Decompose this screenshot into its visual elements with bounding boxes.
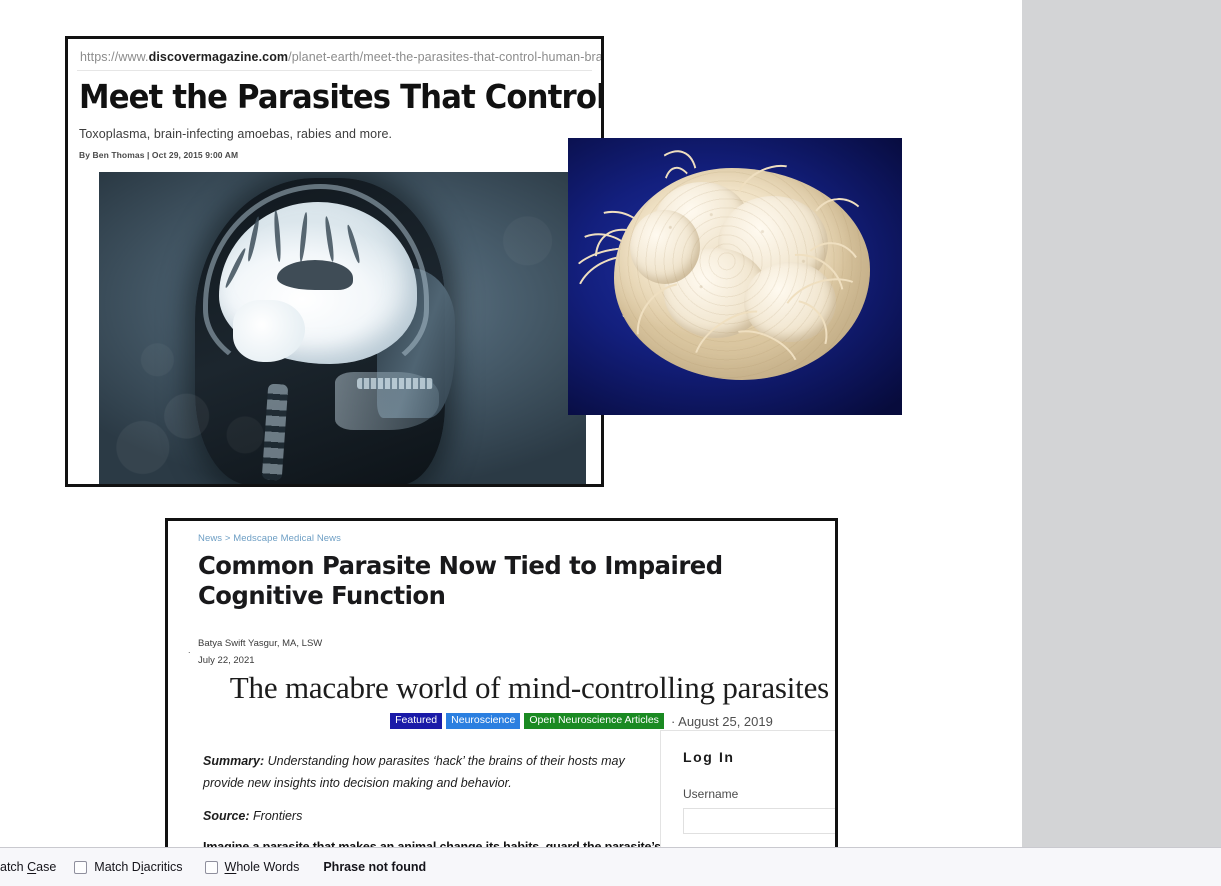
- discover-article-inner: https://www.discovermagazine.com/planet-…: [68, 39, 601, 485]
- teeth: [357, 378, 433, 389]
- skull-outline: [203, 184, 429, 380]
- article-author: Batya Swift Yasgur, MA, LSW: [198, 638, 835, 649]
- url-bar[interactable]: https://www.discovermagazine.com/planet-…: [77, 45, 592, 71]
- source-paragraph: Source: Frontiers: [203, 809, 668, 823]
- match-diacritics-option[interactable]: Match Diacritics: [74, 860, 182, 874]
- article-date: July 22, 2021: [198, 655, 835, 666]
- username-input[interactable]: [683, 808, 838, 834]
- spine: [262, 383, 289, 480]
- tag-publish-date: · August 25, 2019: [671, 714, 773, 729]
- cerebellum: [233, 300, 305, 362]
- brain-fold: [273, 210, 282, 262]
- jaw-bone: [335, 372, 439, 430]
- match-case-option[interactable]: atch Case: [0, 860, 56, 874]
- lede-paragraph: Imagine a parasite that makes an animal …: [203, 840, 668, 847]
- page-title: Common Parasite Now Tied to Impaired Cog…: [198, 551, 816, 610]
- brain-fold: [246, 216, 260, 262]
- browser-page: https://www.discovermagazine.com/planet-…: [0, 0, 1221, 886]
- stray-mark: .: [188, 645, 191, 655]
- tag-featured[interactable]: Featured: [390, 713, 442, 729]
- face-profile: [377, 268, 455, 418]
- medscape-article-card[interactable]: News > Medscape Medical News Common Para…: [165, 518, 838, 847]
- brain-fold: [298, 212, 308, 262]
- brain-fold: [346, 224, 362, 264]
- source-label: Source:: [203, 809, 250, 823]
- match-case-label: atch Case: [0, 860, 56, 874]
- match-diacritics-label: Match Diacritics: [94, 860, 182, 874]
- brain-mass: [219, 202, 417, 364]
- source-text: Frontiers: [250, 809, 303, 823]
- worm-cluster-front: [568, 138, 902, 415]
- right-side-panel: [1022, 0, 1221, 847]
- article-body: Summary: Understanding how parasites ‘ha…: [198, 751, 668, 847]
- tag-neuroscience[interactable]: Neuroscience: [446, 713, 520, 729]
- login-card: Log In Username: [660, 730, 838, 847]
- brain-fold: [224, 247, 248, 289]
- whole-words-checkbox[interactable]: [205, 861, 218, 874]
- breadcrumb[interactable]: News > Medscape Medical News: [198, 533, 835, 544]
- tag-row: Featured Neuroscience Open Neuroscience …: [198, 713, 835, 729]
- summary-paragraph: Summary: Understanding how parasites ‘ha…: [203, 751, 668, 795]
- whole-words-option[interactable]: Whole Words: [205, 860, 300, 874]
- worm-infested-brain-photo: [568, 138, 902, 415]
- article-dek: Toxoplasma, brain-infecting amoebas, rab…: [79, 127, 592, 141]
- username-label: Username: [683, 787, 838, 801]
- tag-open-neuroscience-articles[interactable]: Open Neuroscience Articles: [524, 713, 664, 729]
- summary-label: Summary:: [203, 754, 264, 768]
- head-silhouette: [195, 178, 445, 485]
- find-toolbar[interactable]: atch Case Match Diacritics Whole Words P…: [0, 847, 1221, 886]
- discover-article-card[interactable]: https://www.discovermagazine.com/planet-…: [65, 36, 604, 487]
- match-diacritics-checkbox[interactable]: [74, 861, 87, 874]
- login-title: Log In: [683, 749, 838, 765]
- corpus-callosum: [277, 260, 353, 290]
- page-title: Meet the Parasites That Control Human Br…: [79, 80, 556, 115]
- find-status-message: Phrase not found: [323, 860, 426, 874]
- url-domain: discovermagazine.com: [149, 50, 289, 64]
- article-byline: By Ben Thomas | Oct 29, 2015 9:00 AM: [79, 150, 592, 160]
- summary-text: Understanding how parasites ‘hack’ the b…: [203, 754, 625, 790]
- whole-words-label: Whole Words: [225, 860, 300, 874]
- xray-head-brain-photo: [99, 172, 586, 485]
- medscape-article-inner: News > Medscape Medical News Common Para…: [168, 521, 835, 847]
- url-path: /planet-earth/meet-the-parasites-that-co…: [288, 50, 604, 64]
- brain-fold: [324, 216, 335, 262]
- url-prefix: https://www.: [80, 50, 149, 64]
- neuroscience-news-title: The macabre world of mind-controlling pa…: [198, 670, 835, 706]
